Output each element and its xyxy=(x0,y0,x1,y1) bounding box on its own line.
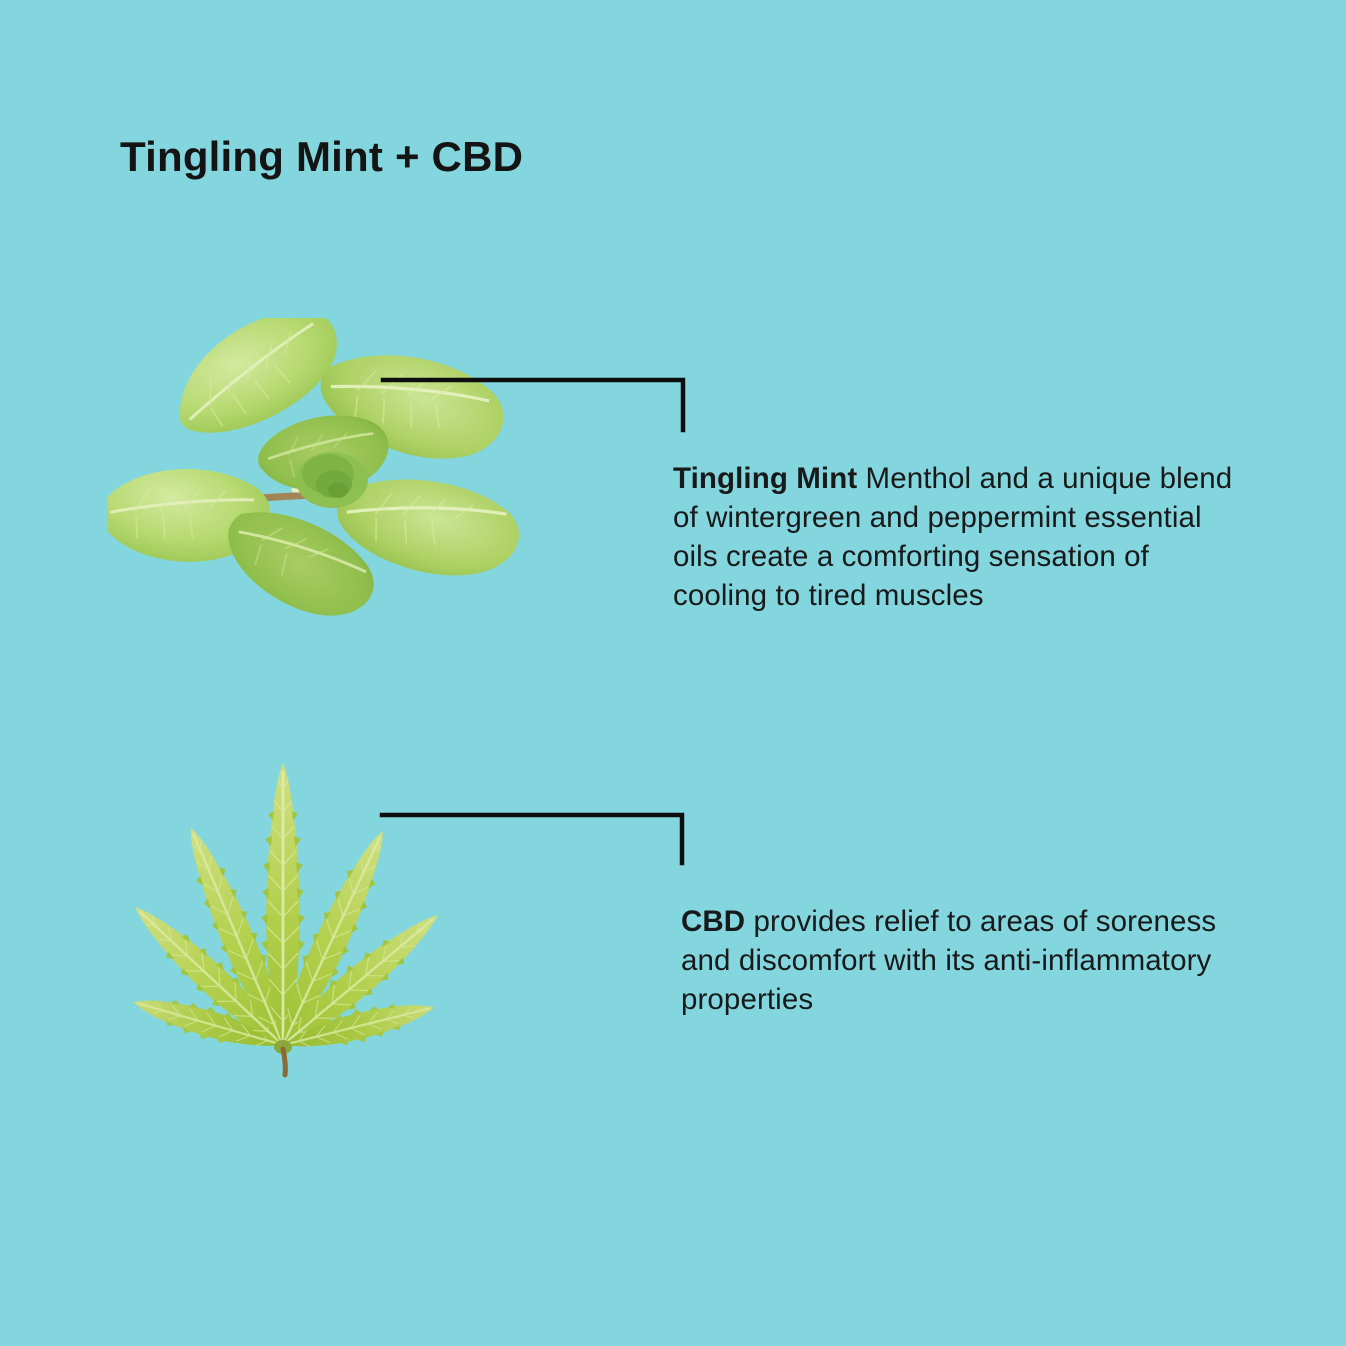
mint-sprig-illustration xyxy=(108,318,568,648)
page-title: Tingling Mint + CBD xyxy=(120,133,523,181)
callout-text-cbd: CBD provides relief to areas of soreness… xyxy=(681,902,1237,1019)
callout-body-cbd: provides relief to areas of soreness and… xyxy=(681,905,1216,1016)
connector-line-cbd xyxy=(380,809,690,871)
callout-lead-cbd: CBD xyxy=(681,905,745,938)
callout-lead-tingling-mint: Tingling Mint xyxy=(673,462,857,495)
cannabis-leaf-illustration xyxy=(100,700,560,1120)
infographic-page: Tingling Mint + CBD xyxy=(0,0,1346,1346)
connector-line-mint xyxy=(381,374,691,436)
callout-text-tingling-mint: Tingling Mint Menthol and a unique blend… xyxy=(673,459,1233,615)
